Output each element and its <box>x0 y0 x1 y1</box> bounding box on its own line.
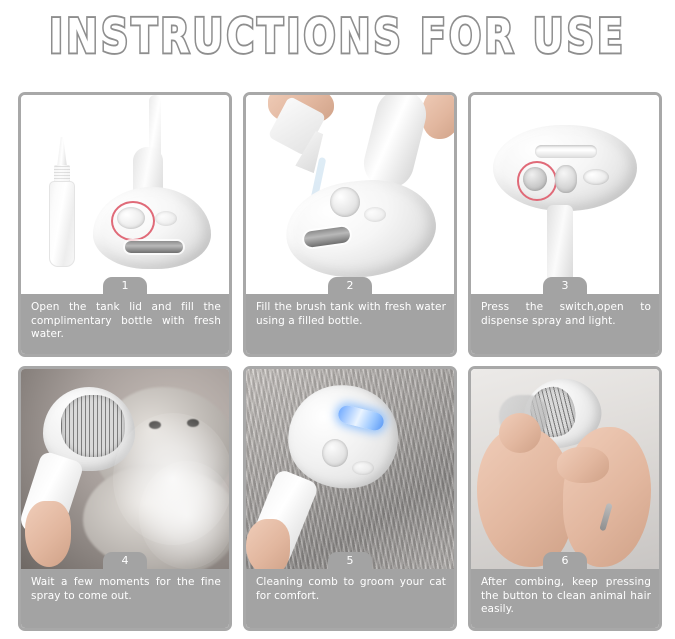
step-caption-3: Press the switch,open to dispense spray … <box>481 301 651 328</box>
step-image-1 <box>21 95 229 297</box>
step-image-4 <box>21 369 229 572</box>
step-number-badge-5: 5 <box>328 552 372 569</box>
hand-holding-brush <box>25 501 71 567</box>
scene-hand-pouring-into-tank <box>246 95 454 297</box>
step-panel-1: 1 Open the tank lid and fill the complim… <box>18 92 232 357</box>
spray-bottle-illustration <box>45 137 79 267</box>
step-caption-6: After combing, keep pressing the button … <box>481 576 651 617</box>
page-header: INSTRUCTIONS FOR USE <box>0 0 675 72</box>
step-number-badge-6: 6 <box>543 552 587 569</box>
page-title: INSTRUCTIONS FOR USE <box>49 9 626 64</box>
bottle-tip <box>57 137 67 167</box>
hand-thumb <box>422 95 454 139</box>
right-thumb <box>557 447 609 483</box>
center-knob <box>322 439 348 467</box>
step-number-badge-2: 2 <box>328 277 372 294</box>
tank-window <box>535 145 597 158</box>
scene-top-view-switch-highlighted <box>471 95 659 297</box>
step-number-badge-3: 3 <box>543 277 587 294</box>
highlight-ring-icon <box>111 201 155 241</box>
secondary-button <box>155 211 177 226</box>
device-base <box>281 173 440 284</box>
scene-hands-cleaning-hair-from-brush <box>471 369 659 572</box>
spray-mist-secondary <box>139 461 229 569</box>
step-panel-5: 5 Cleaning comb to groom your cat for co… <box>243 366 457 631</box>
step-caption-1: Open the tank lid and fill the complimen… <box>31 301 221 342</box>
step-caption-bar-2: Fill the brush tank with fresh water usi… <box>246 294 454 354</box>
step-number-badge-4: 4 <box>103 552 147 569</box>
water-window-slot <box>125 241 183 253</box>
side-button <box>352 461 374 475</box>
step-caption-bar-5: Cleaning comb to groom your cat for comf… <box>246 569 454 628</box>
secondary-button <box>364 207 386 222</box>
step-panel-6: 6 After combing, keep pressing the butto… <box>468 366 662 631</box>
highlight-ring-icon <box>517 161 557 201</box>
step-panel-4: 4 Wait a few moments for the fine spray … <box>18 366 232 631</box>
step-caption-4: Wait a few moments for the fine spray to… <box>31 576 221 603</box>
step-caption-2: Fill the brush tank with fresh water usi… <box>256 301 446 328</box>
step-number-badge-1: 1 <box>103 277 147 294</box>
side-button <box>583 169 609 185</box>
step-caption-bar-3: Press the switch,open to dispense spray … <box>471 294 659 354</box>
center-knob <box>555 165 577 193</box>
scene-product-bottle-and-device <box>21 95 229 297</box>
step-image-6 <box>471 369 659 572</box>
device-handle <box>359 95 432 194</box>
step-caption-bar-6: After combing, keep pressing the button … <box>471 569 659 628</box>
step-image-3 <box>471 95 659 297</box>
step-panel-3: 3 Press the switch,open to dispense spra… <box>468 92 662 357</box>
scene-brush-spraying-near-cat <box>21 369 229 572</box>
left-finger <box>499 413 541 453</box>
bottle-threads <box>54 166 70 181</box>
tank-opening <box>330 187 360 217</box>
step-caption-bar-4: Wait a few moments for the fine spray to… <box>21 569 229 628</box>
step-panel-2: 2 Fill the brush tank with fresh water u… <box>243 92 457 357</box>
instruction-steps-grid: 1 Open the tank lid and fill the complim… <box>18 92 660 631</box>
brush-pins <box>61 395 125 457</box>
scene-brush-on-cat-fur-led-on <box>246 369 454 572</box>
step-caption-5: Cleaning comb to groom your cat for comf… <box>256 576 446 603</box>
step-caption-bar-1: Open the tank lid and fill the complimen… <box>21 294 229 354</box>
step-image-5 <box>246 369 454 572</box>
step-image-2 <box>246 95 454 297</box>
hand-holding-brush <box>246 519 290 572</box>
bottle-body <box>49 181 75 267</box>
